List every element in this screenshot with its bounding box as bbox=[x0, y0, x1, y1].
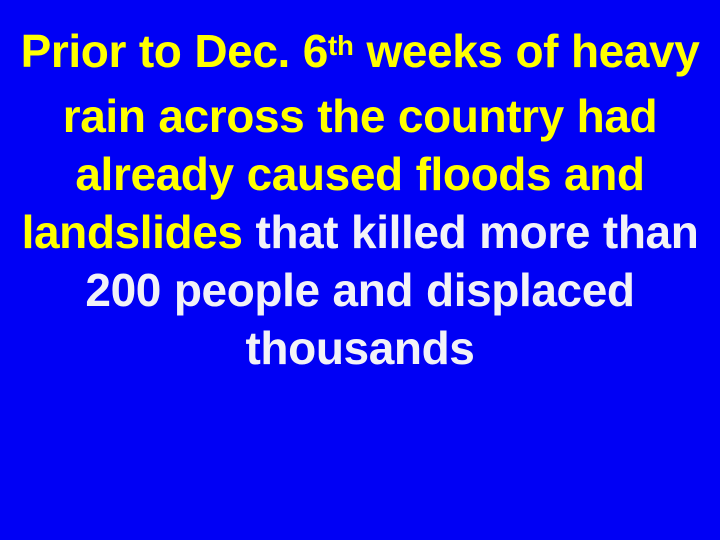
slide-canvas: Prior to Dec. 6th weeks of heavy rain ac… bbox=[0, 0, 720, 540]
body-text-yellow-lead: Prior to Dec. 6 bbox=[21, 25, 328, 77]
ordinal-superscript: th bbox=[328, 30, 354, 61]
slide-body-text: Prior to Dec. 6th weeks of heavy rain ac… bbox=[0, 22, 720, 377]
